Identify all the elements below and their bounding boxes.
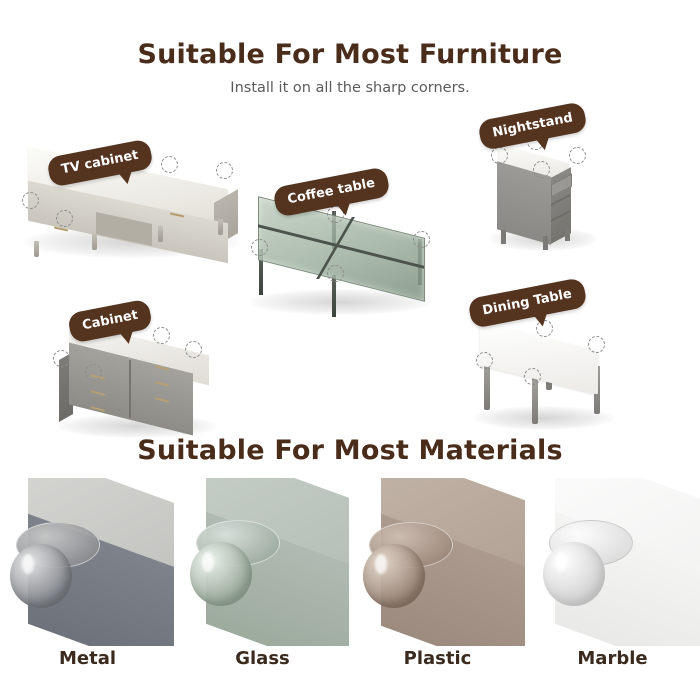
bubble-tail xyxy=(118,170,134,185)
tv-cabinet-leg xyxy=(92,234,97,250)
nightstand-leg xyxy=(543,236,548,250)
furniture-item-cabinet: Cabinet xyxy=(55,320,245,440)
bubble-tail xyxy=(119,330,135,345)
corner-marker xyxy=(588,336,605,353)
furniture-section-title: Suitable For Most Furniture xyxy=(0,39,700,70)
furniture-item-coffee-table: Coffee table xyxy=(246,193,441,313)
infographic-page: Suitable For Most Furniture Install it o… xyxy=(0,0,700,700)
nightstand-leg xyxy=(501,230,506,244)
corner-marker xyxy=(161,156,178,173)
dining-table-leg xyxy=(484,362,490,410)
corner-guard-marble xyxy=(541,518,631,610)
corner-marker xyxy=(53,350,70,367)
guard-highlight xyxy=(22,554,34,574)
bubble-tail xyxy=(533,312,549,327)
bubble-tail xyxy=(535,136,551,151)
corner-marker xyxy=(251,239,268,256)
corner-marker xyxy=(216,162,233,179)
furniture-illustrations: TV cabinet Coffee table xyxy=(0,105,700,425)
corner-marker xyxy=(185,341,202,358)
cabinet-divider xyxy=(129,360,131,418)
tv-cabinet-leg xyxy=(158,226,163,242)
furniture-section-subtitle: Install it on all the sharp corners. xyxy=(0,80,700,96)
nightstand-leg xyxy=(565,227,570,241)
bubble-tail xyxy=(336,202,352,217)
furniture-label-text: Coffee table xyxy=(286,176,376,208)
floor-shadow xyxy=(474,406,614,430)
materials-panel-strip xyxy=(0,478,700,646)
guard-ball xyxy=(190,542,252,606)
material-panel-marble xyxy=(525,478,700,646)
corner-marker xyxy=(413,231,430,248)
guard-highlight xyxy=(202,552,214,572)
corner-marker xyxy=(153,327,170,344)
corner-marker xyxy=(22,192,39,209)
corner-marker xyxy=(327,265,344,282)
guard-ball xyxy=(543,542,605,606)
corner-marker xyxy=(569,147,586,164)
corner-marker xyxy=(56,210,73,227)
material-label-metal: Metal xyxy=(0,648,175,669)
material-label-plastic: Plastic xyxy=(350,648,525,669)
corner-guard-plastic xyxy=(361,520,451,612)
tv-cabinet-leg xyxy=(218,219,223,235)
guard-highlight xyxy=(375,554,387,574)
corner-guard-glass xyxy=(188,518,278,610)
furniture-item-dining-table: Dining Table xyxy=(470,310,620,435)
corner-marker xyxy=(85,364,102,381)
furniture-item-nightstand: Nightstand xyxy=(483,135,603,260)
materials-section-title: Suitable For Most Materials xyxy=(0,435,700,466)
furniture-label-dining-table: Dining Table xyxy=(467,277,587,329)
guard-highlight xyxy=(555,552,567,572)
guard-ball xyxy=(10,544,72,608)
tv-cabinet-leg xyxy=(34,241,39,257)
material-labels-row: Metal Glass Plastic Marble xyxy=(0,648,700,669)
furniture-label-text: Dining Table xyxy=(481,287,573,319)
material-panel-plastic xyxy=(349,478,525,646)
material-label-marble: Marble xyxy=(525,648,700,669)
guard-ball xyxy=(363,544,425,608)
furniture-item-tv-cabinet: TV cabinet xyxy=(18,140,248,265)
material-panel-glass xyxy=(174,478,350,646)
material-label-glass: Glass xyxy=(175,648,350,669)
furniture-label-text: Nightstand xyxy=(491,110,574,140)
corner-marker xyxy=(533,161,550,178)
corner-marker xyxy=(491,147,508,164)
corner-marker xyxy=(524,368,541,385)
corner-guard-metal xyxy=(8,520,98,612)
material-panel-metal xyxy=(0,478,174,646)
corner-marker xyxy=(476,352,493,369)
